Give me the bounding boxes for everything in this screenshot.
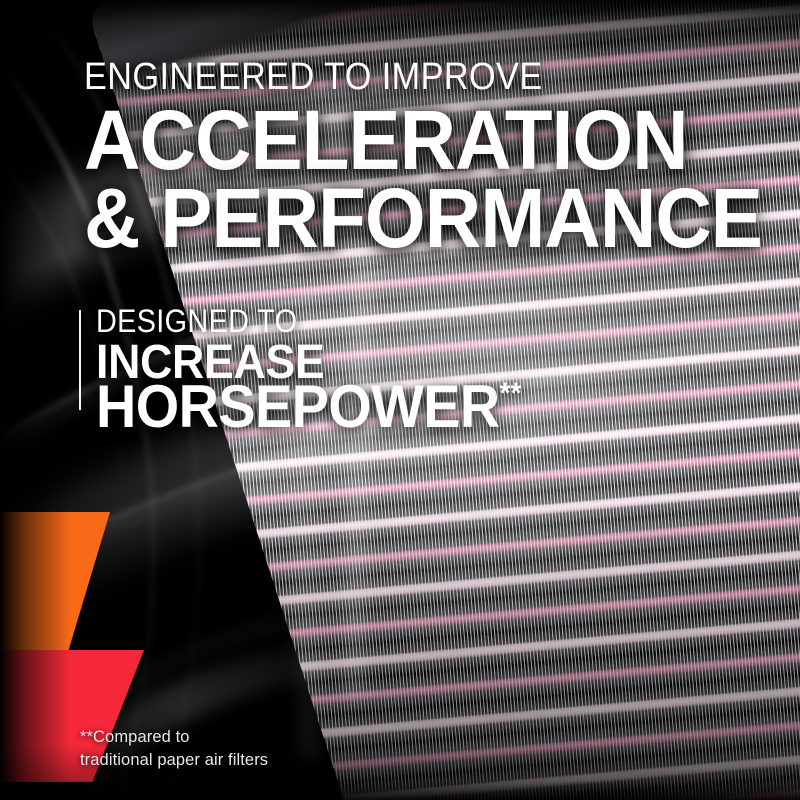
footnote-block: **Compared to traditional paper air filt… bbox=[80, 726, 268, 773]
footnote-marker: ** bbox=[500, 377, 522, 410]
headline-line-2: & PERFORMANCE bbox=[84, 179, 762, 258]
headline-line-1: ACCELERATION bbox=[84, 101, 688, 180]
footnote-line-2: traditional paper air filters bbox=[80, 749, 268, 772]
subheadline-line-2-text: HORSEPOWER bbox=[96, 373, 500, 440]
orange-chevron-shape bbox=[0, 512, 110, 652]
marketing-banner: ENGINEERED TO IMPROVE ACCELERATION & PER… bbox=[0, 0, 800, 800]
vertical-accent-rule bbox=[79, 310, 81, 410]
subheadline-line-2: HORSEPOWER** bbox=[96, 372, 521, 441]
footnote-line-1: **Compared to bbox=[80, 726, 268, 749]
